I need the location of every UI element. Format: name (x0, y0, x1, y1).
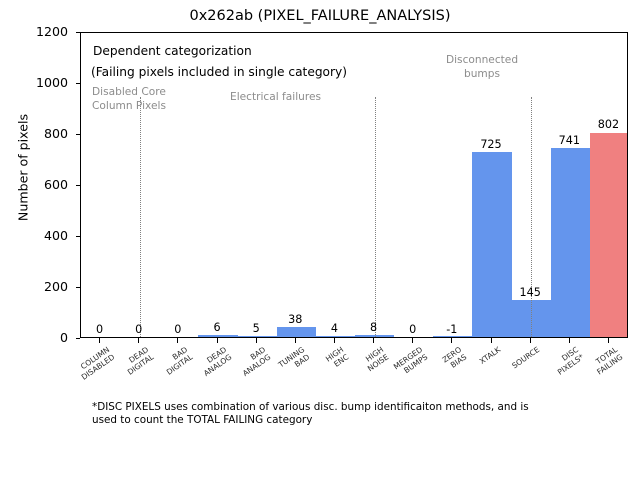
bar (238, 336, 277, 337)
category-separator-line (375, 97, 376, 337)
x-tick-mark (256, 338, 257, 343)
y-tick-label: 0 (0, 332, 74, 345)
figure-canvas: 0x262ab (PIXEL_FAILURE_ANALYSIS) 0200400… (0, 0, 640, 480)
x-tick-mark (491, 338, 492, 343)
category-separator-line (531, 97, 532, 337)
y-tick-label: 600 (0, 179, 74, 192)
x-tick-mark (608, 338, 609, 343)
x-tick-mark (138, 338, 139, 343)
x-tick-mark (295, 338, 296, 343)
footnote-text: *DISC PIXELS uses combination of various… (92, 401, 592, 427)
chart-annotation: (Failing pixels included in single categ… (91, 66, 431, 80)
bar (472, 152, 511, 337)
y-axis-label: Number of pixels (16, 48, 31, 288)
x-tick-mark (451, 338, 452, 343)
y-tick-label: 1000 (0, 77, 74, 90)
bar (316, 336, 355, 337)
bar (198, 335, 237, 337)
y-tick-label: 800 (0, 128, 74, 141)
x-tick-mark (177, 338, 178, 343)
x-tick-mark (373, 338, 374, 343)
x-tick-mark (99, 338, 100, 343)
page-title: 0x262ab (PIXEL_FAILURE_ANALYSIS) (0, 8, 640, 24)
bar-value-label: 145 (500, 287, 560, 298)
bar-value-label: 802 (578, 119, 638, 130)
bar-value-label: 741 (539, 135, 599, 146)
chart-annotation: Electrical failures (230, 91, 360, 105)
y-tick-label: 400 (0, 230, 74, 243)
bar (551, 148, 590, 337)
chart-annotation: Dependent categorization (93, 45, 393, 59)
bar (590, 133, 627, 338)
x-tick-mark (530, 338, 531, 343)
chart-annotation: Disconnected bumps (422, 54, 542, 81)
y-tick-label: 200 (0, 281, 74, 294)
chart-annotation: Disabled Core Column Pixels (92, 86, 212, 113)
y-tick-label: 1200 (0, 26, 74, 39)
bar-value-label: -1 (422, 324, 482, 335)
x-tick-mark (569, 338, 570, 343)
category-separator-line (140, 97, 141, 337)
bar-value-label: 725 (461, 139, 521, 150)
x-tick-mark (334, 338, 335, 343)
bar (433, 336, 472, 337)
x-tick-mark (217, 338, 218, 343)
x-tick-mark (412, 338, 413, 343)
